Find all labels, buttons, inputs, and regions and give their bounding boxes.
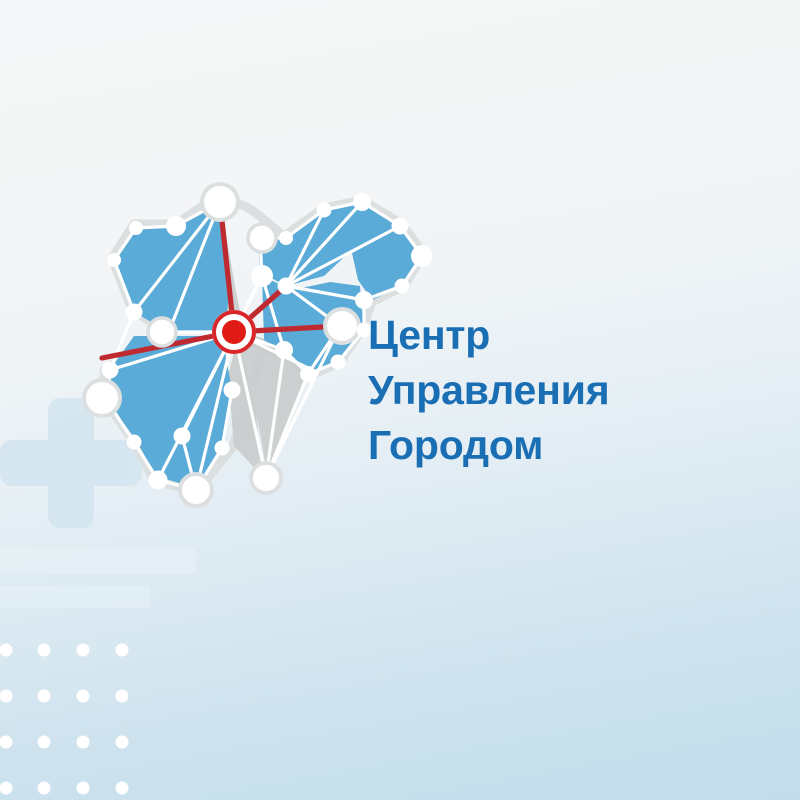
map-hub-node bbox=[148, 318, 176, 346]
logo-card-canvas: Центр Управления Городом bbox=[0, 0, 800, 800]
control-center-node bbox=[212, 310, 256, 354]
brand-wordmark: Центр Управления Городом bbox=[368, 308, 768, 473]
brand-line-3: Городом bbox=[368, 418, 768, 473]
map-hub-node bbox=[325, 309, 359, 343]
map-hub-node bbox=[248, 224, 276, 252]
map-hub-node bbox=[84, 380, 120, 416]
brand-logo: Центр Управления Городом bbox=[0, 0, 800, 800]
map-hub-node bbox=[180, 474, 212, 506]
brand-line-1: Центр bbox=[368, 308, 768, 363]
map-hub-node bbox=[251, 463, 281, 493]
map-hub-node bbox=[202, 184, 238, 220]
brand-line-2: Управления bbox=[368, 363, 768, 418]
